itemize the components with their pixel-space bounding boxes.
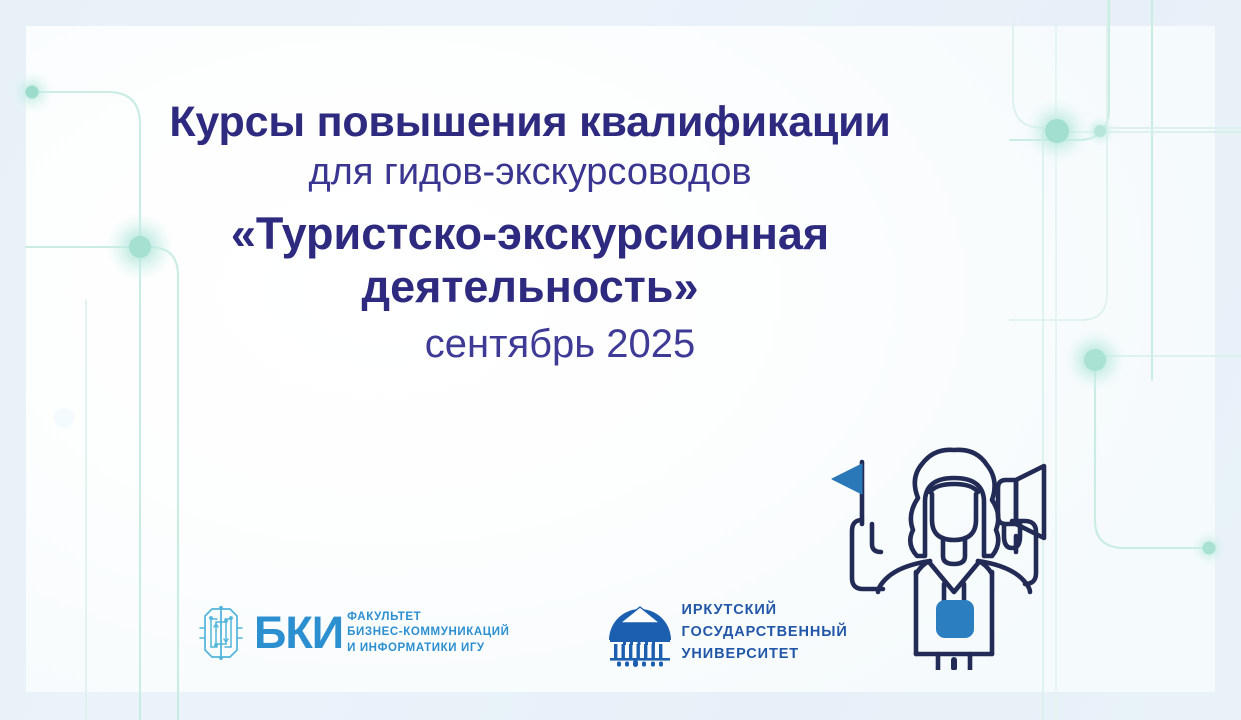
headline-line-1: Курсы повышения квалификации (0, 100, 1060, 145)
igu-wordmark: ИРКУТСКИЙ ГОСУДАРСТВЕННЫЙ УНИВЕРСИТЕТ (682, 600, 848, 665)
bki-sub-line-2: БИЗНЕС-КОММУНИКАЦИЙ (347, 626, 509, 638)
bki-letters: БКИ (254, 612, 343, 655)
bki-circuit-emblem-icon (196, 606, 246, 660)
course-date: сентябрь 2025 (0, 323, 1060, 365)
course-title: «Туристско-экскурсионная деятельность» (80, 207, 980, 313)
igu-line-2: ГОСУДАРСТВЕННЫЙ (682, 624, 848, 640)
bki-sub-line-1: ФАКУЛЬТЕТ (347, 611, 421, 623)
badge-icon (936, 600, 974, 638)
igu-line-3: УНИВЕРСИТЕТ (682, 646, 800, 662)
bki-logo: БКИ ФАКУЛЬТЕТ БИЗНЕС-КОММУНИКАЦИЙ И ИНФО… (196, 606, 510, 660)
igu-building-emblem-icon (606, 598, 674, 668)
logo-row: БКИ ФАКУЛЬТЕТ БИЗНЕС-КОММУНИКАЦИЙ И ИНФО… (196, 598, 848, 668)
bki-sub-line-3: И ИНФОРМАТИКИ ИГУ (347, 642, 485, 654)
headline-block: Курсы повышения квалификации для гидов-э… (0, 100, 1060, 365)
tour-guide-illustration (826, 432, 1076, 670)
bki-wordmark: БКИ ФАКУЛЬТЕТ БИЗНЕС-КОММУНИКАЦИЙ И ИНФО… (254, 610, 510, 656)
igu-logo: ИРКУТСКИЙ ГОСУДАРСТВЕННЫЙ УНИВЕРСИТЕТ (606, 598, 848, 668)
bki-faculty-name: ФАКУЛЬТЕТ БИЗНЕС-КОММУНИКАЦИЙ И ИНФОРМАТ… (347, 610, 509, 656)
igu-line-1: ИРКУТСКИЙ (682, 602, 777, 618)
presentation-slide: Курсы повышения квалификации для гидов-э… (0, 0, 1241, 720)
headline-line-2: для гидов-экскурсоводов (0, 153, 1060, 193)
